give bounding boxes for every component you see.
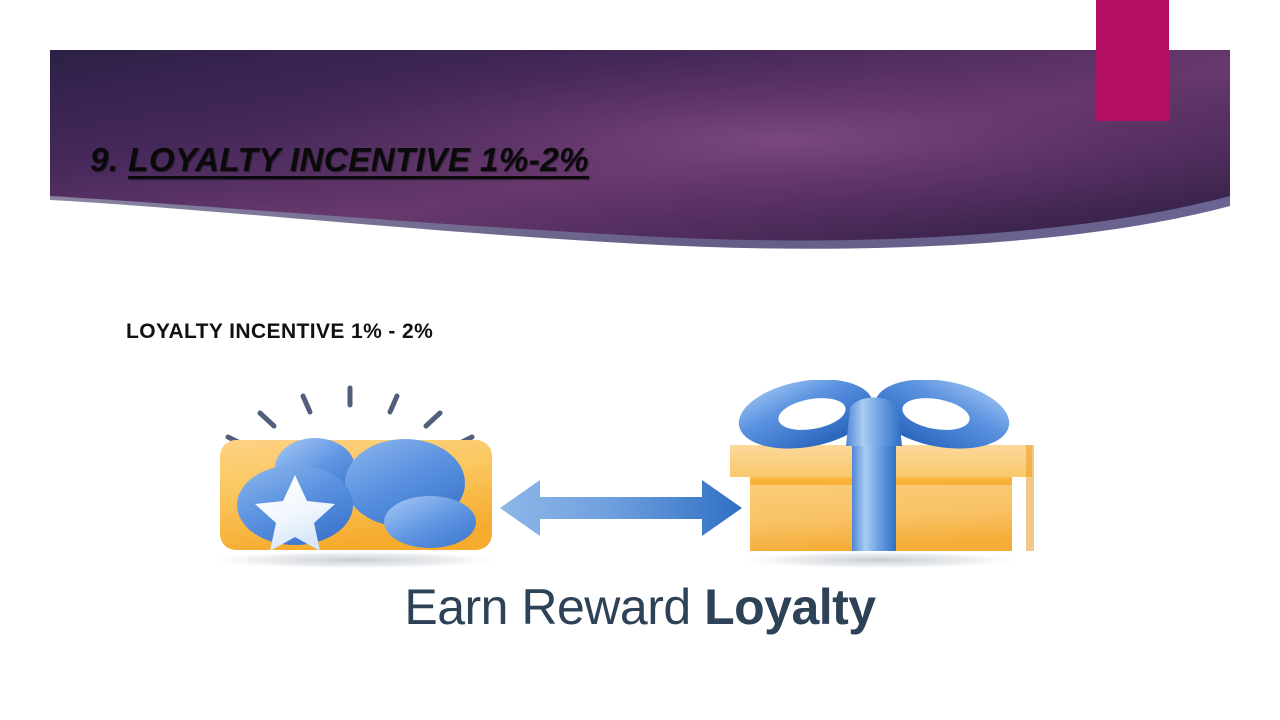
caption-regular-text: Earn Reward [404,579,704,635]
title-number: 9. [90,141,128,178]
double-arrow [500,480,742,536]
illustration-caption: Earn Reward Loyalty [190,578,1090,636]
gift-ribbon-vertical [852,442,896,551]
slide-title-text: 9. LOYALTY INCENTIVE 1%-2% [90,138,1090,182]
slide-canvas: 9. LOYALTY INCENTIVE 1%-2% LOYALTY INCEN… [0,0,1280,720]
gift-box-shadow [735,551,1025,569]
body-text: LOYALTY INCENTIVE 1% - 2% [126,320,433,344]
left-card-shadow [205,551,505,569]
page-title: 9. LOYALTY INCENTIVE 1%-2% [90,138,1090,198]
sparkle-rays [228,388,472,446]
caption-bold-text: Loyalty [704,579,876,635]
gift-box [730,380,1034,551]
magenta-accent-bar [1096,0,1169,121]
header-banner [0,0,1280,260]
title-main-text: LOYALTY INCENTIVE 1%-2% [128,141,589,178]
